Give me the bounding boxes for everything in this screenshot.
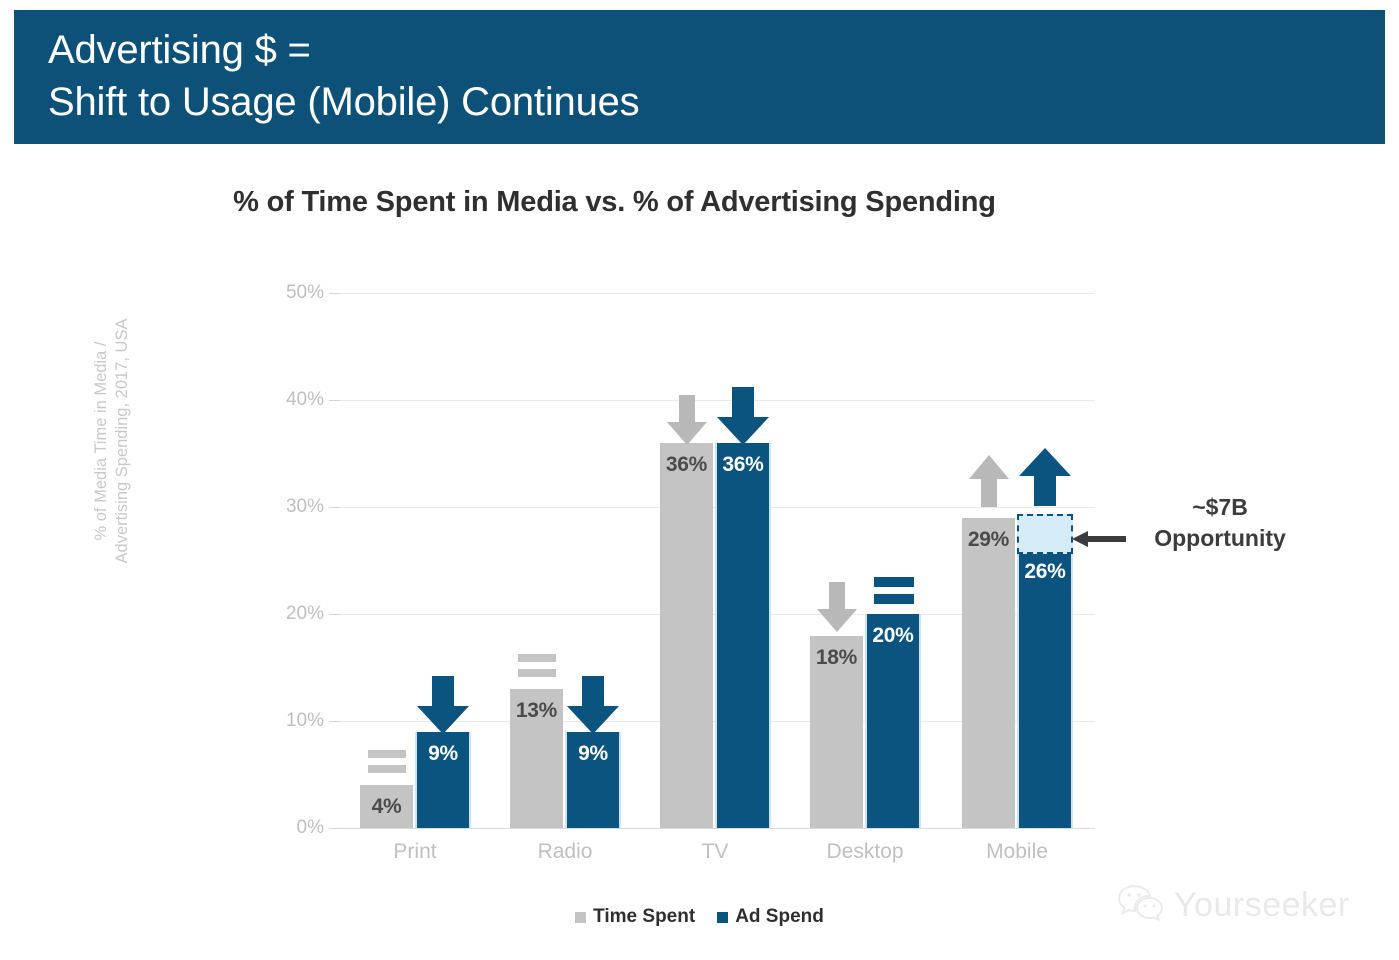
bar-ad-spend-desktop[interactable]: 20% (865, 614, 921, 828)
tick-dash-30 (329, 507, 340, 508)
equal-icon-ad-spend-desktop (874, 575, 914, 607)
x-label-tv: TV (645, 840, 785, 864)
legend-label-time-spent: Time Spent (593, 906, 695, 928)
y-tick-label-40: 40% (264, 389, 324, 411)
legend-swatch-ad-spend (717, 912, 728, 923)
equal-icon-time-spent-print (368, 748, 406, 776)
legend-item-ad-spend[interactable]: Ad Spend (717, 906, 824, 928)
bar-time-spent-mobile[interactable]: 29% (962, 518, 1015, 828)
up-arrow-icon-time-spent-mobile (969, 455, 1009, 507)
tick-dash-0 (329, 828, 340, 829)
down-arrow-icon-ad-spend-print (417, 676, 469, 734)
gridline-50 (340, 293, 1095, 294)
x-label-mobile: Mobile (947, 840, 1087, 864)
bar-value-time-spent-mobile: 29% (962, 528, 1015, 552)
x-label-radio: Radio (495, 840, 635, 864)
equal-icon-time-spent-radio (518, 652, 556, 680)
y-tick-label-50: 50% (264, 282, 324, 304)
bar-value-time-spent-tv: 36% (660, 453, 713, 477)
x-label-desktop: Desktop (795, 840, 935, 864)
opportunity-annotation: ~$7B Opportunity (1120, 492, 1320, 554)
gridline-0 (340, 828, 1095, 829)
up-arrow-icon-ad-spend-mobile (1019, 448, 1071, 506)
down-arrow-icon-ad-spend-radio (567, 676, 619, 734)
bar-value-ad-spend-tv: 36% (717, 453, 769, 477)
tick-dash-50 (329, 293, 340, 294)
tick-dash-20 (329, 614, 340, 615)
tick-dash-40 (329, 400, 340, 401)
opportunity-amount: ~$7B (1120, 492, 1320, 523)
wechat-icon (1118, 884, 1164, 927)
bar-ad-spend-mobile[interactable]: 26% (1017, 550, 1073, 828)
bar-value-time-spent-desktop: 18% (810, 646, 863, 670)
bar-value-time-spent-print: 4% (360, 795, 413, 819)
watermark-text: Yourseeker (1174, 886, 1350, 925)
bar-value-ad-spend-desktop: 20% (867, 624, 919, 648)
y-tick-label-30: 30% (264, 496, 324, 518)
left-arrow-icon (1072, 531, 1126, 547)
bar-time-spent-desktop[interactable]: 18% (810, 636, 863, 828)
y-tick-label-20: 20% (264, 603, 324, 625)
bar-ad-spend-tv[interactable]: 36% (715, 443, 771, 828)
down-arrow-icon-ad-spend-tv (717, 387, 769, 445)
y-tick-label-10: 10% (264, 710, 324, 732)
down-arrow-icon-time-spent-desktop (817, 582, 857, 632)
legend-label-ad-spend: Ad Spend (735, 906, 824, 928)
bar-value-time-spent-radio: 13% (510, 699, 563, 723)
bar-time-spent-print[interactable]: 4% (360, 785, 413, 828)
opportunity-highlight-box[interactable] (1017, 514, 1073, 554)
bar-time-spent-tv[interactable]: 36% (660, 443, 713, 828)
opportunity-label: Opportunity (1120, 523, 1320, 554)
bar-ad-spend-radio[interactable]: 9% (565, 732, 621, 828)
down-arrow-icon-time-spent-tv (667, 395, 707, 445)
legend-swatch-time-spent (575, 912, 586, 923)
bar-value-ad-spend-radio: 9% (567, 742, 619, 766)
y-axis-title: % of Media Time in Media / Advertising S… (91, 276, 133, 606)
legend-item-time-spent[interactable]: Time Spent (575, 906, 695, 928)
watermark: Yourseeker (1118, 884, 1350, 927)
bar-time-spent-radio[interactable]: 13% (510, 689, 563, 828)
y-tick-label-0: 0% (264, 817, 324, 839)
x-label-print: Print (345, 840, 485, 864)
bar-value-ad-spend-mobile: 26% (1019, 560, 1071, 584)
bar-value-ad-spend-print: 9% (417, 742, 469, 766)
tick-dash-10 (329, 721, 340, 722)
chart-plot-area: % of Media Time in Media / Advertising S… (0, 0, 1399, 960)
bar-ad-spend-print[interactable]: 9% (415, 732, 471, 828)
